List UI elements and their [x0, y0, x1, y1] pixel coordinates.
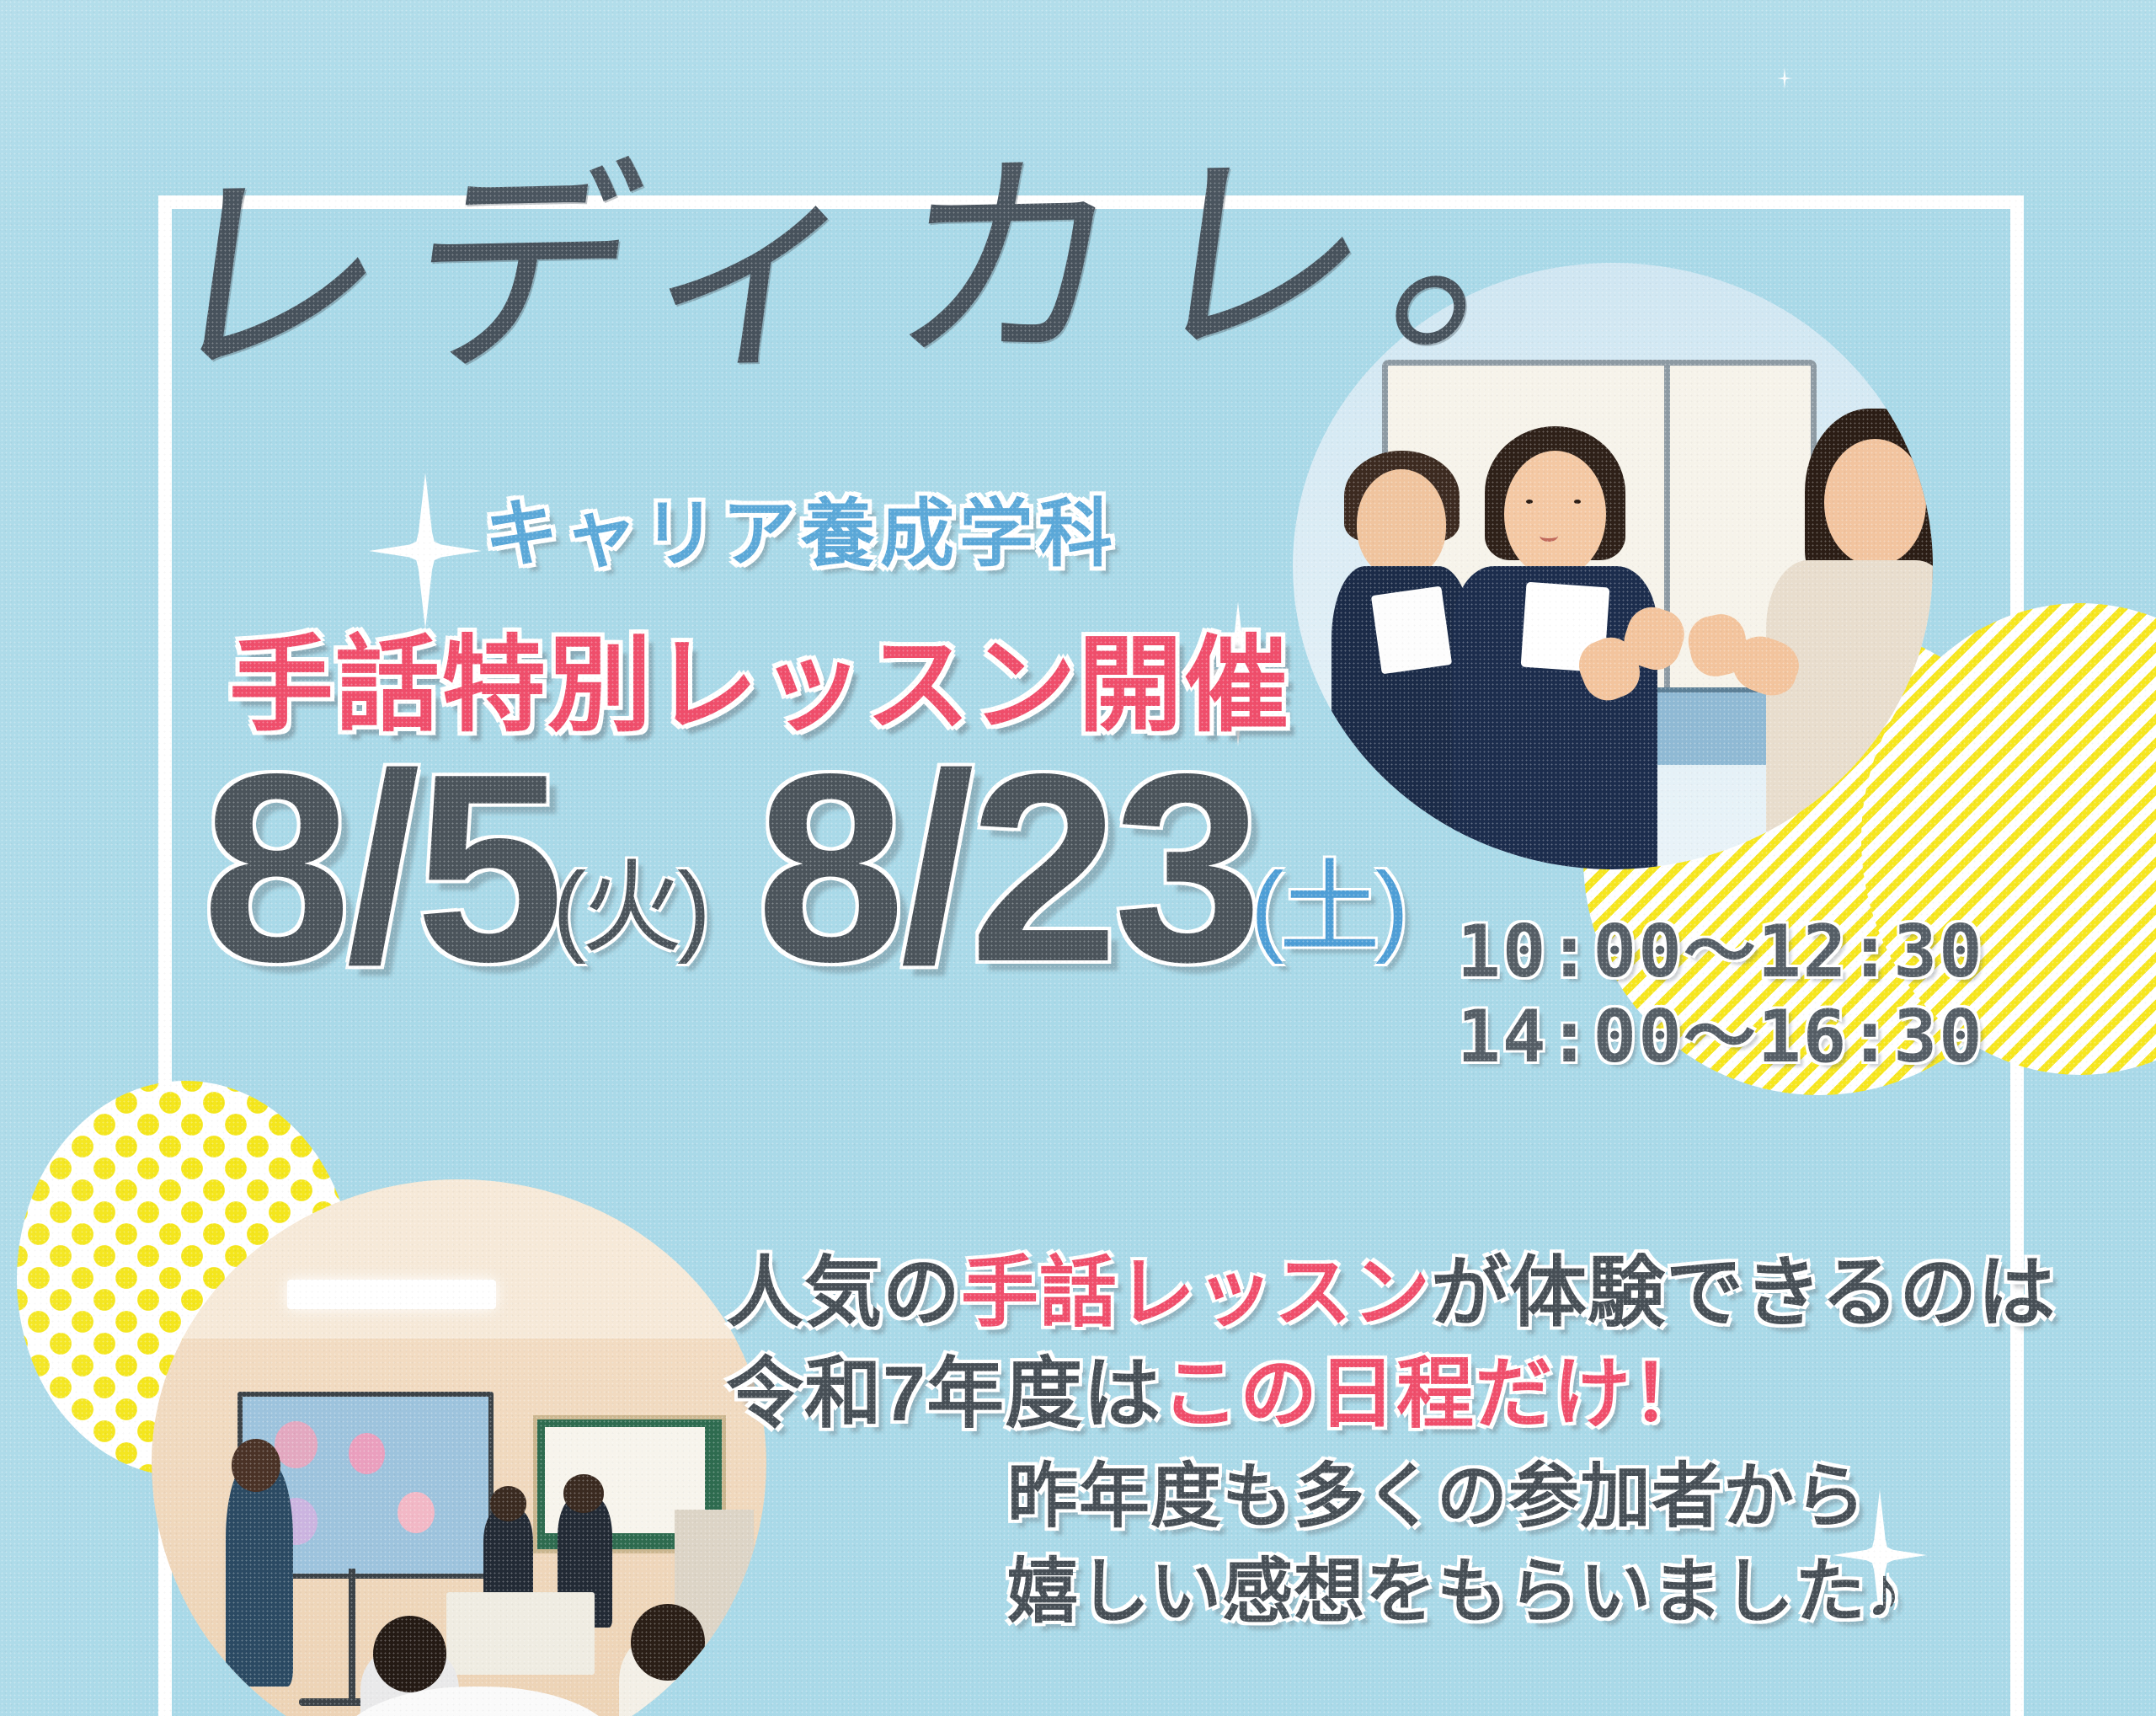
- body-line-1-part-c: が体験できるのは: [1431, 1250, 2056, 1336]
- event-day-of-week-1: (火): [552, 858, 706, 996]
- body-line-2: 令和7年度はこの日程だけ！: [726, 1344, 2056, 1446]
- event-time-slot-1: 10:00〜12:30: [1457, 910, 1984, 995]
- body-line-1: 人気の手話レッスンが体験できるのは: [726, 1243, 2056, 1344]
- event-times: 10:00〜12:30 14:00〜16:30: [1457, 910, 1984, 1081]
- body-line-4: 嬉しい感想をもらいました♪: [1007, 1544, 1903, 1639]
- classroom-lesson-photo: [152, 1179, 766, 1716]
- body-line-2-highlight: この日程だけ！: [1161, 1351, 1710, 1437]
- body-line-1-highlight: 手話レッスン: [961, 1250, 1431, 1336]
- event-dates: 8/5 (火) 8/23 (土): [202, 741, 1404, 996]
- department-name: キャリア養成学科: [484, 474, 1118, 581]
- poster-canvas: レディカレ。 キャリア養成学科 手話特別レッスン開催 8/5 (火) 8/23 …: [0, 0, 2156, 1716]
- body-line-1-part-a: 人気の: [726, 1250, 961, 1336]
- event-time-slot-2: 14:00〜16:30: [1457, 995, 1984, 1080]
- body-line-3: 昨年度も多くの参加者から: [1007, 1449, 1903, 1544]
- event-date-2: 8/23: [756, 741, 1257, 996]
- brand-title: レディカレ。: [141, 66, 1670, 424]
- event-date-1: 8/5: [202, 741, 559, 996]
- body-paragraph-primary: 人気の手話レッスンが体験できるのは 令和7年度はこの日程だけ！: [726, 1243, 2056, 1445]
- body-line-2-part-a: 令和7年度は: [726, 1351, 1161, 1437]
- body-paragraph-secondary: 昨年度も多くの参加者から 嬉しい感想をもらいました♪: [1007, 1449, 1903, 1638]
- sparkle-icon: [1777, 67, 1792, 89]
- event-day-of-week-2: (土): [1251, 858, 1404, 996]
